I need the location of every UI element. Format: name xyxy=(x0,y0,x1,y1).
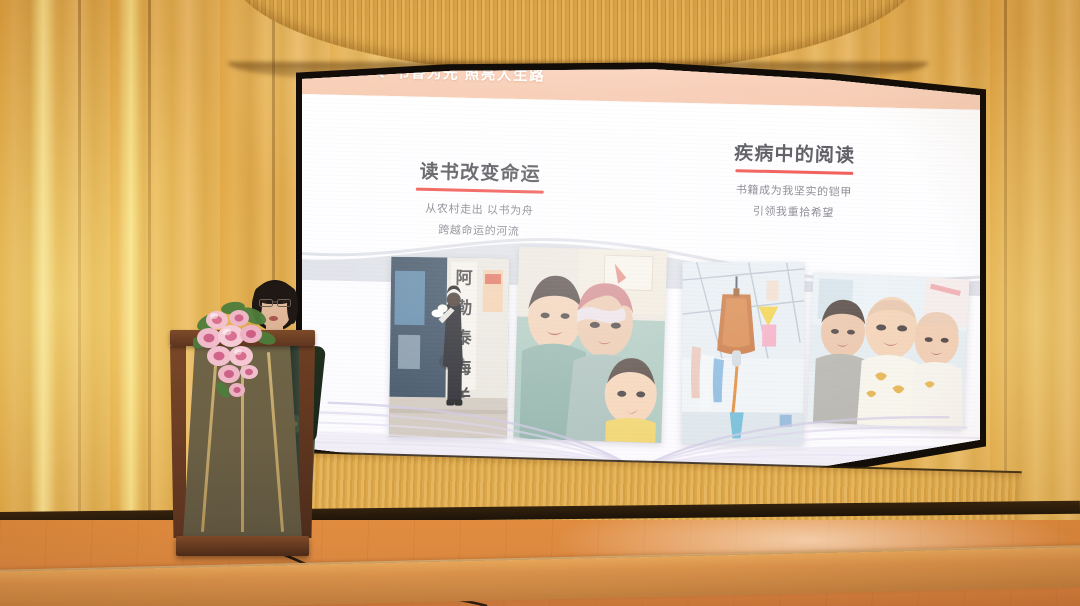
heading-subtitle-line-2: 跨越命运的河流 xyxy=(379,220,579,244)
led-screen[interactable]: 一、书香为光 照亮人生路 读书改变命运 从农村走出 以书为舟 跨越命运的河流 xyxy=(302,66,980,474)
heading-underline xyxy=(735,169,853,174)
slide-surface: 一、书香为光 照亮人生路 读书改变命运 从农村走出 以书为舟 跨越命运的河流 xyxy=(302,66,980,474)
heading-text: 读书改变命运 xyxy=(380,156,581,188)
podium-base xyxy=(176,536,309,556)
heading-subtitle-line-2: 引领我重拾希望 xyxy=(693,201,893,225)
heading-subtitle-line-1: 书籍成为我坚实的铠甲 xyxy=(694,180,894,204)
auditorium-scene: 一、书香为光 照亮人生路 读书改变命运 从农村走出 以书为舟 跨越命运的河流 xyxy=(0,0,1080,606)
heading-text: 疾病中的阅读 xyxy=(695,137,896,169)
podium-flower-arrangement xyxy=(193,298,277,402)
slide-body: 读书改变命运 从农村走出 以书为舟 跨越命运的河流 疾病中的阅读 书籍成为我坚实… xyxy=(302,94,980,474)
heading-subtitle-line-1: 从农村走出 以书为舟 xyxy=(379,198,579,222)
podium-side-left xyxy=(170,346,186,538)
heading-underline xyxy=(416,188,544,194)
column-heading-right: 疾病中的阅读 书籍成为我坚实的铠甲 引领我重拾希望 xyxy=(693,137,895,225)
podium-side-right xyxy=(299,346,315,538)
column-heading-left: 读书改变命运 从农村走出 以书为舟 跨越命运的河流 xyxy=(379,156,581,244)
svg-text:阿: 阿 xyxy=(455,269,472,288)
